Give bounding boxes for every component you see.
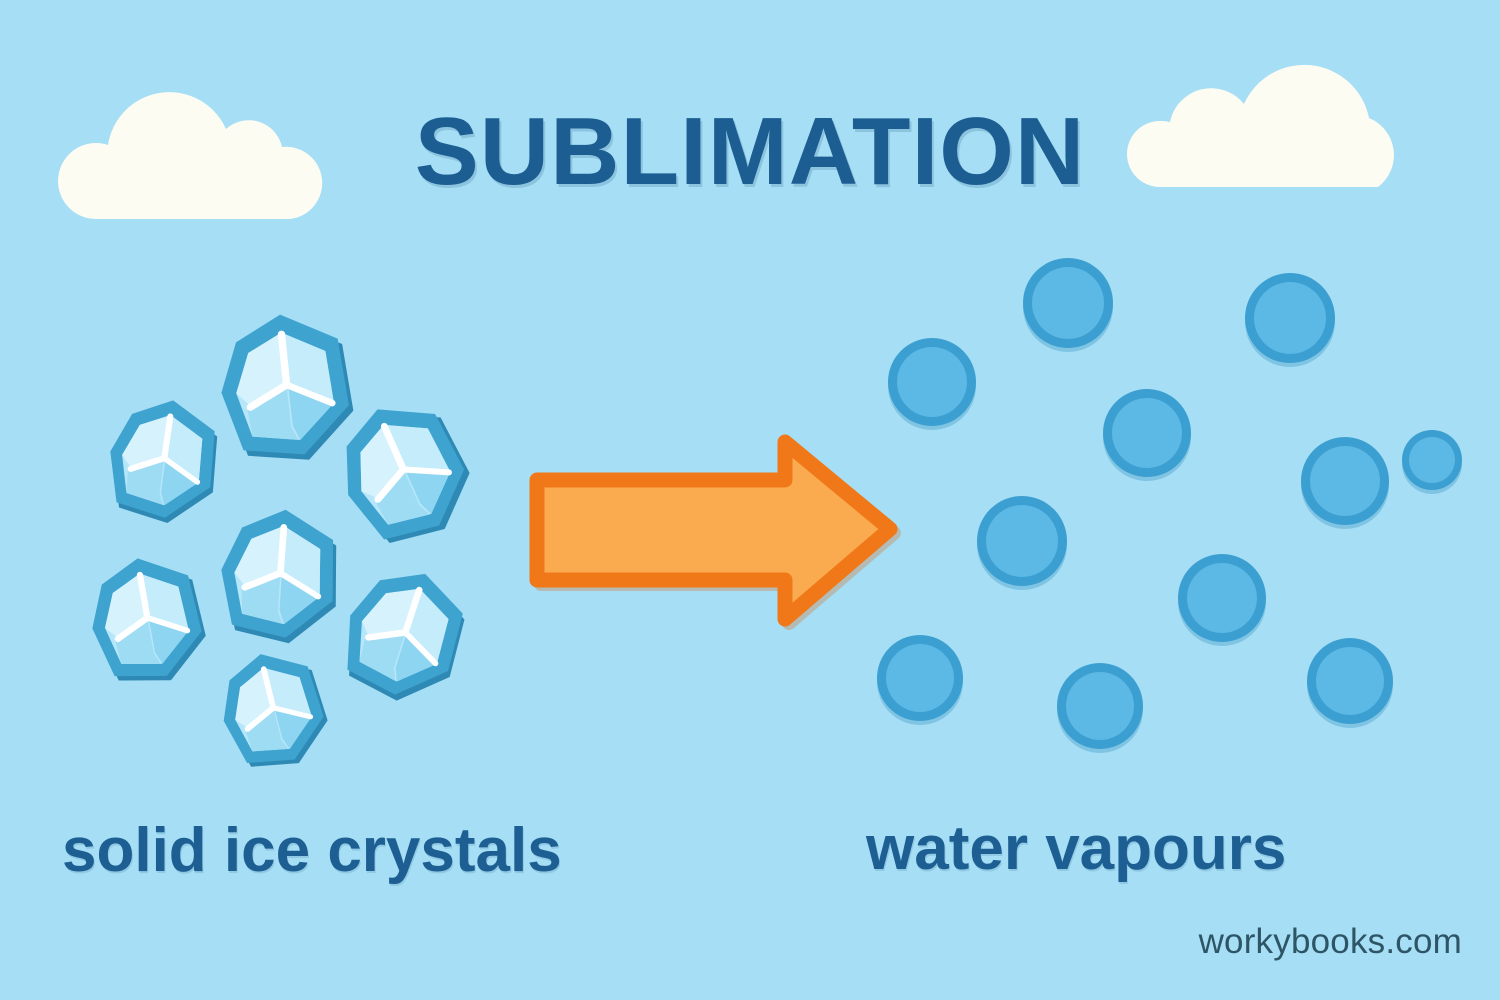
vapour-particle xyxy=(1178,554,1266,646)
vapour-particle xyxy=(1103,389,1191,481)
vapour-particle xyxy=(1307,638,1393,728)
page-title: SUBLIMATION xyxy=(0,104,1500,200)
ice-crystal-cluster xyxy=(84,310,486,777)
ice-crystal-top xyxy=(216,310,356,466)
label-water-vapours: water vapours xyxy=(866,818,1286,880)
vapour-particle xyxy=(1023,258,1113,352)
watermark-text: workybooks.com xyxy=(1199,922,1462,962)
vapour-particle xyxy=(977,496,1067,590)
label-solid-ice-crystals: solid ice crystals xyxy=(62,820,562,882)
sublimation-diagram: SUBLIMATION solid ice crystals water vap… xyxy=(0,0,1500,1000)
water-vapour-particles xyxy=(877,258,1462,753)
ice-crystal-upper-left xyxy=(100,391,228,530)
vapour-particle xyxy=(1402,430,1462,494)
ice-crystal-bottom xyxy=(212,643,335,776)
ice-crystal-lower-right xyxy=(328,555,480,715)
ice-crystal-center xyxy=(214,504,345,648)
ice-crystal-lower-left xyxy=(84,550,212,690)
vapour-particle xyxy=(877,635,963,725)
vapour-particle xyxy=(1057,663,1143,753)
vapour-particle xyxy=(1301,437,1389,529)
vapour-particle xyxy=(1245,273,1335,367)
vapour-particle xyxy=(888,338,976,430)
sublimation-arrow-icon xyxy=(537,442,894,623)
